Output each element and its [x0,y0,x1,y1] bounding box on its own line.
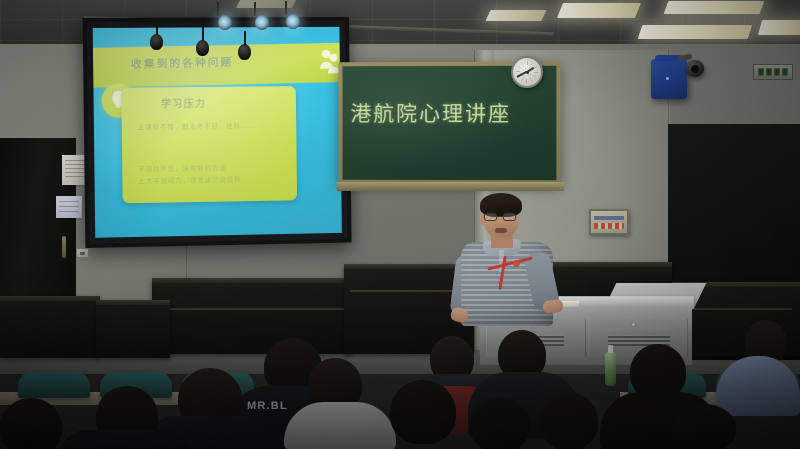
audience-head [390,380,456,444]
glasses-icon [484,213,518,221]
audience-head [0,398,62,449]
slide-banner-title: 收集到的各种问题 [131,54,234,72]
wooden-desk [96,300,170,358]
water-bottle [605,352,616,386]
blue-wall-unit-icon [651,59,687,99]
wall-outlet[interactable] [76,248,89,258]
wall-notice-plate [589,209,629,235]
wall-clock [511,56,543,88]
audience-head [672,404,736,449]
emergency-exit-sign [753,64,793,80]
track-lamp-silhouette [196,40,209,56]
blackboard-text: 港航院心理讲座 [350,98,511,128]
track-lamp-silhouette [238,44,251,60]
security-camera-icon [686,60,704,77]
track-lamp-silhouette [150,34,163,50]
lecture-hall-photo: 收集到的各种问题 学习压力 上课听不懂、期末考不好、挂科…… 学习效率低，没有好… [0,0,800,449]
ceiling-light-panel [557,3,641,18]
speaker-right-hand [542,299,564,315]
ceiling-light-panel [236,0,296,8]
slide-body-line: 学习效率低，没有好的方法 [138,162,227,173]
slide-body-line: 上课听不懂、期末考不好、挂科…… [138,120,256,131]
audience-head [540,392,598,449]
speaker-shirt-logo [513,260,520,267]
door-handle [62,236,66,258]
slide-banner: 收集到的各种问题 [93,43,342,88]
slide-content-card: 学习压力 上课听不懂、期末考不好、挂科…… 学习效率低，没有好的方法 上大学没动… [121,86,297,203]
ceiling-light-panel [758,20,800,35]
ceiling-light-panel [664,1,765,14]
shirt-text: MR.BL [247,400,288,412]
wall-notice-paper [56,196,82,218]
notice-plate-bar [594,216,624,220]
slide-card-heading: 学习压力 [161,95,206,110]
audience-shoulders [284,402,396,449]
presentation-slide: 收集到的各种问题 学习压力 上课听不懂、期末考不好、挂科…… 学习效率低，没有好… [93,27,342,238]
people-silhouette-icon [318,47,340,77]
seat-back [18,372,90,398]
ceiling-light-panel [638,25,753,39]
wooden-desk [152,278,352,354]
wooden-desk [0,296,100,358]
clock-center-pin [526,71,529,74]
notice-plate-row [594,223,624,229]
indicator-dot [666,77,669,80]
podium-screw [632,323,635,326]
blackboard-chalk-tray [337,182,565,191]
slide-body-line: 上大学没动力，感觉迷茫没目标 [138,174,241,186]
projection-screen: 收集到的各种问题 学习压力 上课听不懂、期末考不好、挂科…… 学习效率低，没有好… [83,17,352,248]
audience-shoulders [60,430,190,449]
camera-lens [691,65,699,73]
audience-head [470,398,530,449]
ceiling-light-panel [485,10,546,21]
speaker-mouth [495,228,507,233]
speaker-presenter [455,196,565,316]
